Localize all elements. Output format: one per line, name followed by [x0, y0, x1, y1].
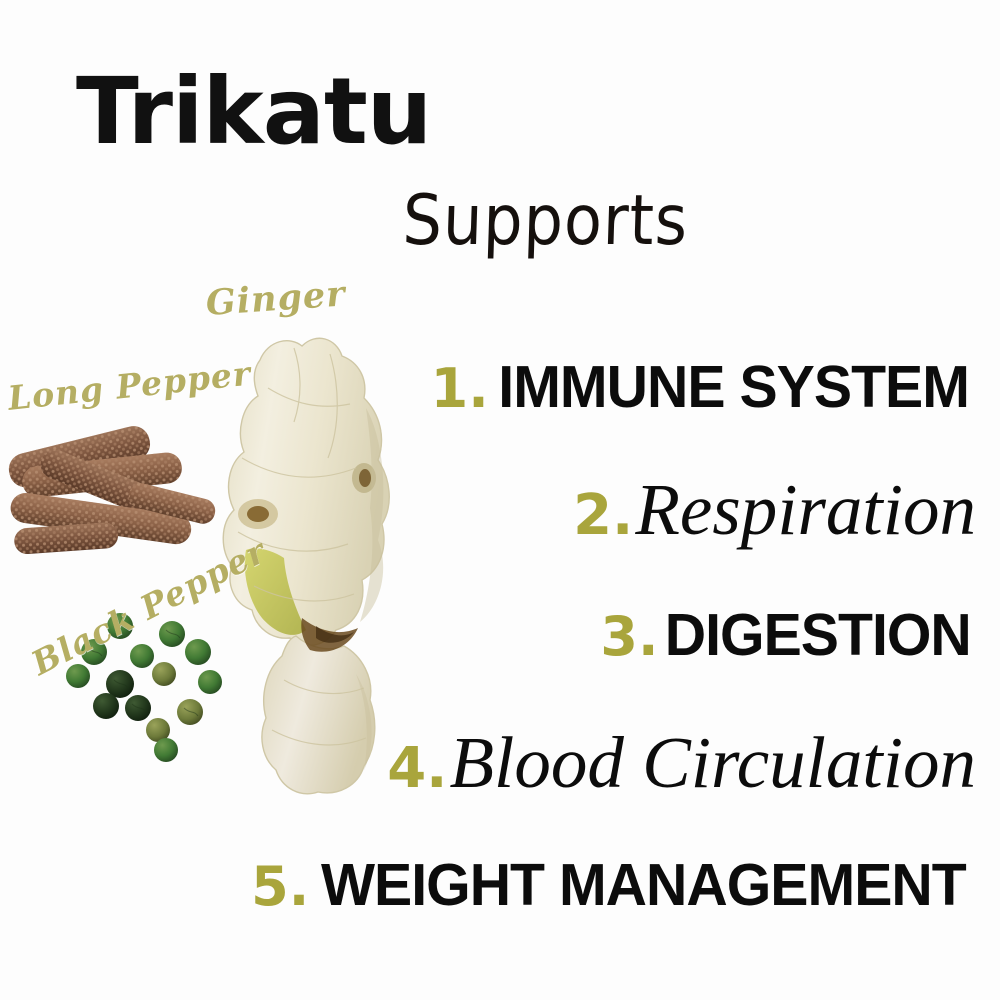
- benefit-label: IMMUNE SYSTEM: [498, 358, 969, 417]
- benefit-number: 2.: [573, 488, 633, 544]
- benefit-number: 4.: [387, 741, 447, 797]
- trikatu-poster: Trikatu Supports: [0, 0, 1000, 1000]
- benefit-label: Blood Circulation: [449, 726, 976, 799]
- benefit-item-respiration: 2. Respiration: [573, 473, 976, 546]
- benefit-item-weight-management: 5. WEIGHT MANAGEMENT: [251, 856, 976, 915]
- benefit-item-immune-system: 1. IMMUNE SYSTEM: [431, 358, 976, 417]
- subtitle-supports: Supports: [401, 180, 689, 261]
- benefit-item-digestion: 3. DIGESTION: [600, 606, 976, 665]
- benefit-label: Respiration: [635, 473, 976, 546]
- benefits-list: 1. IMMUNE SYSTEM 2. Respiration 3. DIGES…: [0, 348, 988, 928]
- benefit-label: WEIGHT MANAGEMENT: [321, 856, 966, 915]
- benefit-number: 1.: [431, 362, 489, 416]
- page-title: Trikatu: [76, 62, 431, 162]
- benefit-label: DIGESTION: [665, 606, 971, 665]
- benefit-item-blood-circulation: 4. Blood Circulation: [387, 726, 976, 799]
- benefit-number: 5.: [251, 860, 309, 914]
- benefit-number: 3.: [600, 610, 658, 664]
- ingredient-label-ginger: Ginger: [205, 273, 347, 324]
